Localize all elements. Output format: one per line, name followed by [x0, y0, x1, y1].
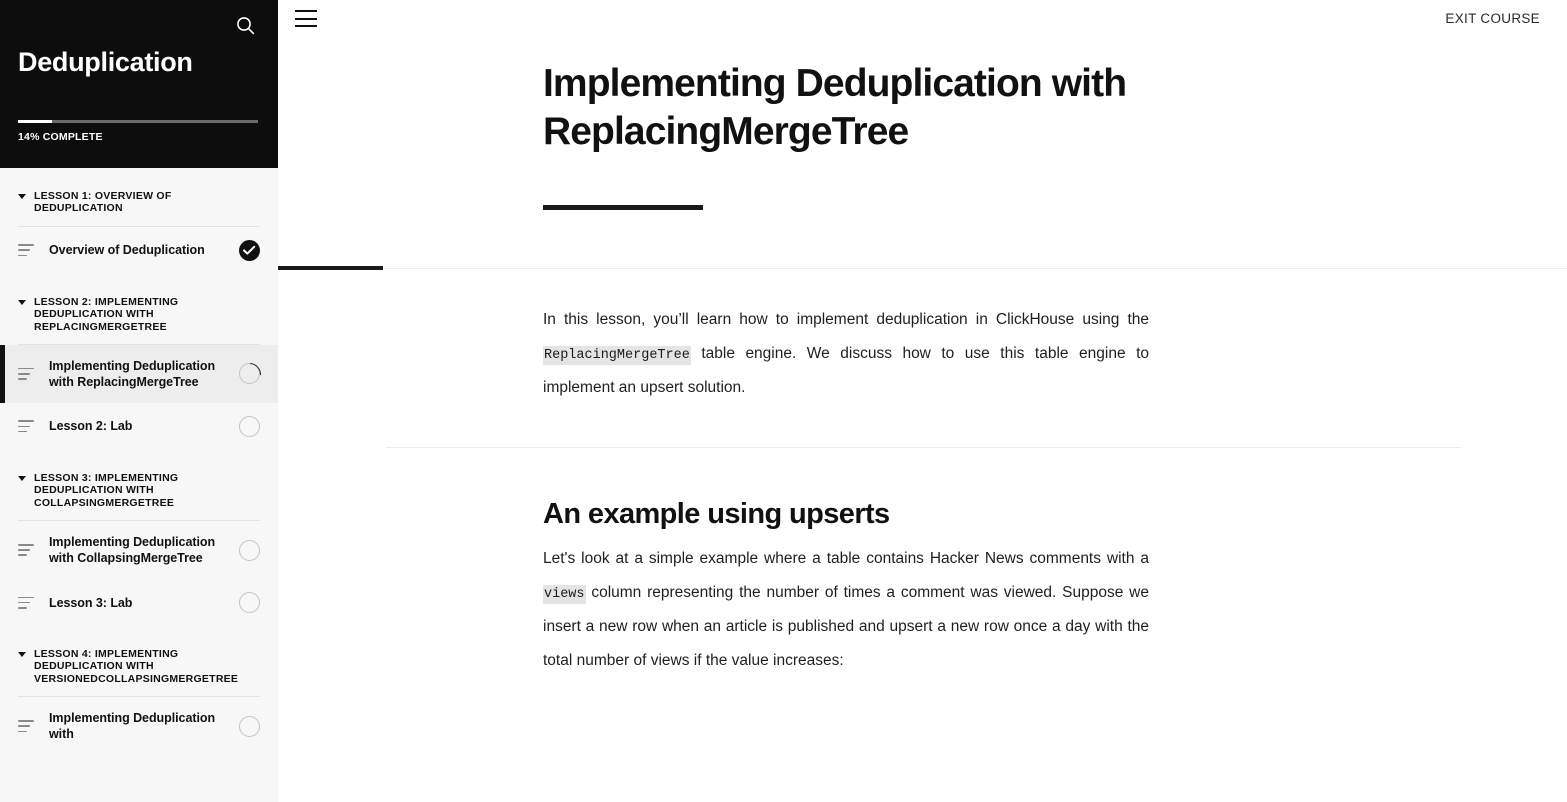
lesson-list-item-label: Lesson 3: Lab: [49, 595, 224, 611]
lesson-group-header[interactable]: LESSON 1: OVERVIEW OF DEDUPLICATION: [0, 168, 278, 215]
course-lesson-page: Deduplication 14% COMPLETE LESSON 1: OVE…: [0, 0, 1567, 802]
top-bar: EXIT COURSE: [278, 0, 1567, 46]
lesson-group-header[interactable]: LESSON 3: IMPLEMENTING DEDUPLICATION WIT…: [0, 450, 278, 509]
text-lines-icon: [18, 720, 34, 732]
main-content: EXIT COURSE Implementing Deduplication w…: [278, 0, 1567, 802]
title-underline-rule: [543, 205, 703, 210]
progress-label: 14% COMPLETE: [18, 131, 258, 143]
lesson-progress-fill: [278, 266, 383, 270]
text-lines-icon: [18, 368, 34, 380]
empty-circle-icon: [239, 540, 260, 561]
lesson-group-header[interactable]: LESSON 2: IMPLEMENTING DEDUPLICATION WIT…: [0, 274, 278, 333]
lesson-list-item-label: Lesson 2: Lab: [49, 418, 224, 434]
lesson-title-block: Implementing Deduplication with Replacin…: [278, 46, 1567, 210]
empty-circle-icon: [239, 416, 260, 437]
text-lines-icon: [18, 597, 34, 609]
lesson-list-item[interactable]: Implementing Deduplication with Replacin…: [0, 345, 278, 403]
paragraph: In this lesson, you’ll learn how to impl…: [386, 303, 1149, 405]
hamburger-menu-icon[interactable]: [295, 10, 317, 27]
lesson-list[interactable]: LESSON 1: OVERVIEW OF DEDUPLICATIONOverv…: [0, 168, 278, 802]
sidebar-header: Deduplication 14% COMPLETE: [0, 0, 278, 168]
lesson-list-item-label: Implementing Deduplication with Replacin…: [49, 358, 224, 390]
text-lines-icon: [18, 544, 34, 556]
lesson-list-item-label: Overview of Deduplication: [49, 242, 224, 258]
paragraph-text-part: column representing the number of times …: [543, 584, 1149, 669]
text-lines-icon: [18, 244, 34, 256]
hamburger-line: [295, 10, 317, 12]
paragraph: Let's look at a simple example where a t…: [386, 542, 1149, 678]
lesson-group-title: LESSON 4: IMPLEMENTING DEDUPLICATION WIT…: [34, 648, 260, 685]
lesson-list-item[interactable]: Implementing Deduplication with Collapsi…: [0, 521, 278, 579]
inline-code: ReplacingMergeTree: [543, 346, 691, 365]
paragraph-text-part: In this lesson, you’ll learn how to impl…: [543, 311, 1149, 328]
lesson-group-title: LESSON 2: IMPLEMENTING DEDUPLICATION WIT…: [34, 296, 260, 333]
paragraph-text-part: Let's look at a simple example where a t…: [543, 550, 1149, 567]
chevron-down-icon[interactable]: [18, 651, 27, 660]
lesson-list-item[interactable]: Implementing Deduplication with: [0, 697, 278, 755]
search-icon[interactable]: [230, 10, 260, 40]
section-heading: An example using upserts: [543, 496, 1461, 534]
progress-circle-icon: [239, 363, 260, 384]
chevron-down-icon[interactable]: [18, 193, 27, 202]
lesson-list-item[interactable]: Lesson 2: Lab: [0, 403, 278, 450]
lesson-body: In this lesson, you’ll learn how to impl…: [278, 269, 1567, 678]
check-circle-icon: [239, 240, 260, 261]
lesson-list-item[interactable]: Overview of Deduplication: [0, 227, 278, 274]
lesson-group-title: LESSON 1: OVERVIEW OF DEDUPLICATION: [34, 190, 260, 215]
inline-code: views: [543, 585, 586, 604]
empty-circle-icon: [239, 716, 260, 737]
exit-course-button[interactable]: EXIT COURSE: [1445, 11, 1540, 26]
course-sidebar: Deduplication 14% COMPLETE LESSON 1: OVE…: [0, 0, 278, 802]
content-block-example: An example using upserts Let's look at a…: [386, 448, 1461, 678]
course-title: Deduplication: [18, 48, 193, 78]
empty-circle-icon: [239, 592, 260, 613]
progress-track: [18, 120, 258, 123]
chevron-down-icon[interactable]: [18, 475, 27, 484]
chevron-down-icon[interactable]: [18, 299, 27, 308]
hamburger-line: [295, 25, 317, 27]
hamburger-line: [295, 18, 317, 20]
content-block-intro: In this lesson, you’ll learn how to impl…: [386, 269, 1461, 405]
lesson-group-header[interactable]: LESSON 4: IMPLEMENTING DEDUPLICATION WIT…: [0, 626, 278, 685]
lesson-list-item[interactable]: Lesson 3: Lab: [0, 579, 278, 626]
lesson-progress-bar: [278, 268, 1567, 269]
page-title: Implementing Deduplication with Replacin…: [543, 60, 1243, 157]
lesson-list-item-label: Implementing Deduplication with: [49, 710, 224, 742]
lesson-group-title: LESSON 3: IMPLEMENTING DEDUPLICATION WIT…: [34, 472, 260, 509]
course-progress: 14% COMPLETE: [18, 120, 258, 143]
text-lines-icon: [18, 420, 34, 432]
lesson-list-item-label: Implementing Deduplication with Collapsi…: [49, 534, 224, 566]
progress-fill: [18, 120, 52, 123]
